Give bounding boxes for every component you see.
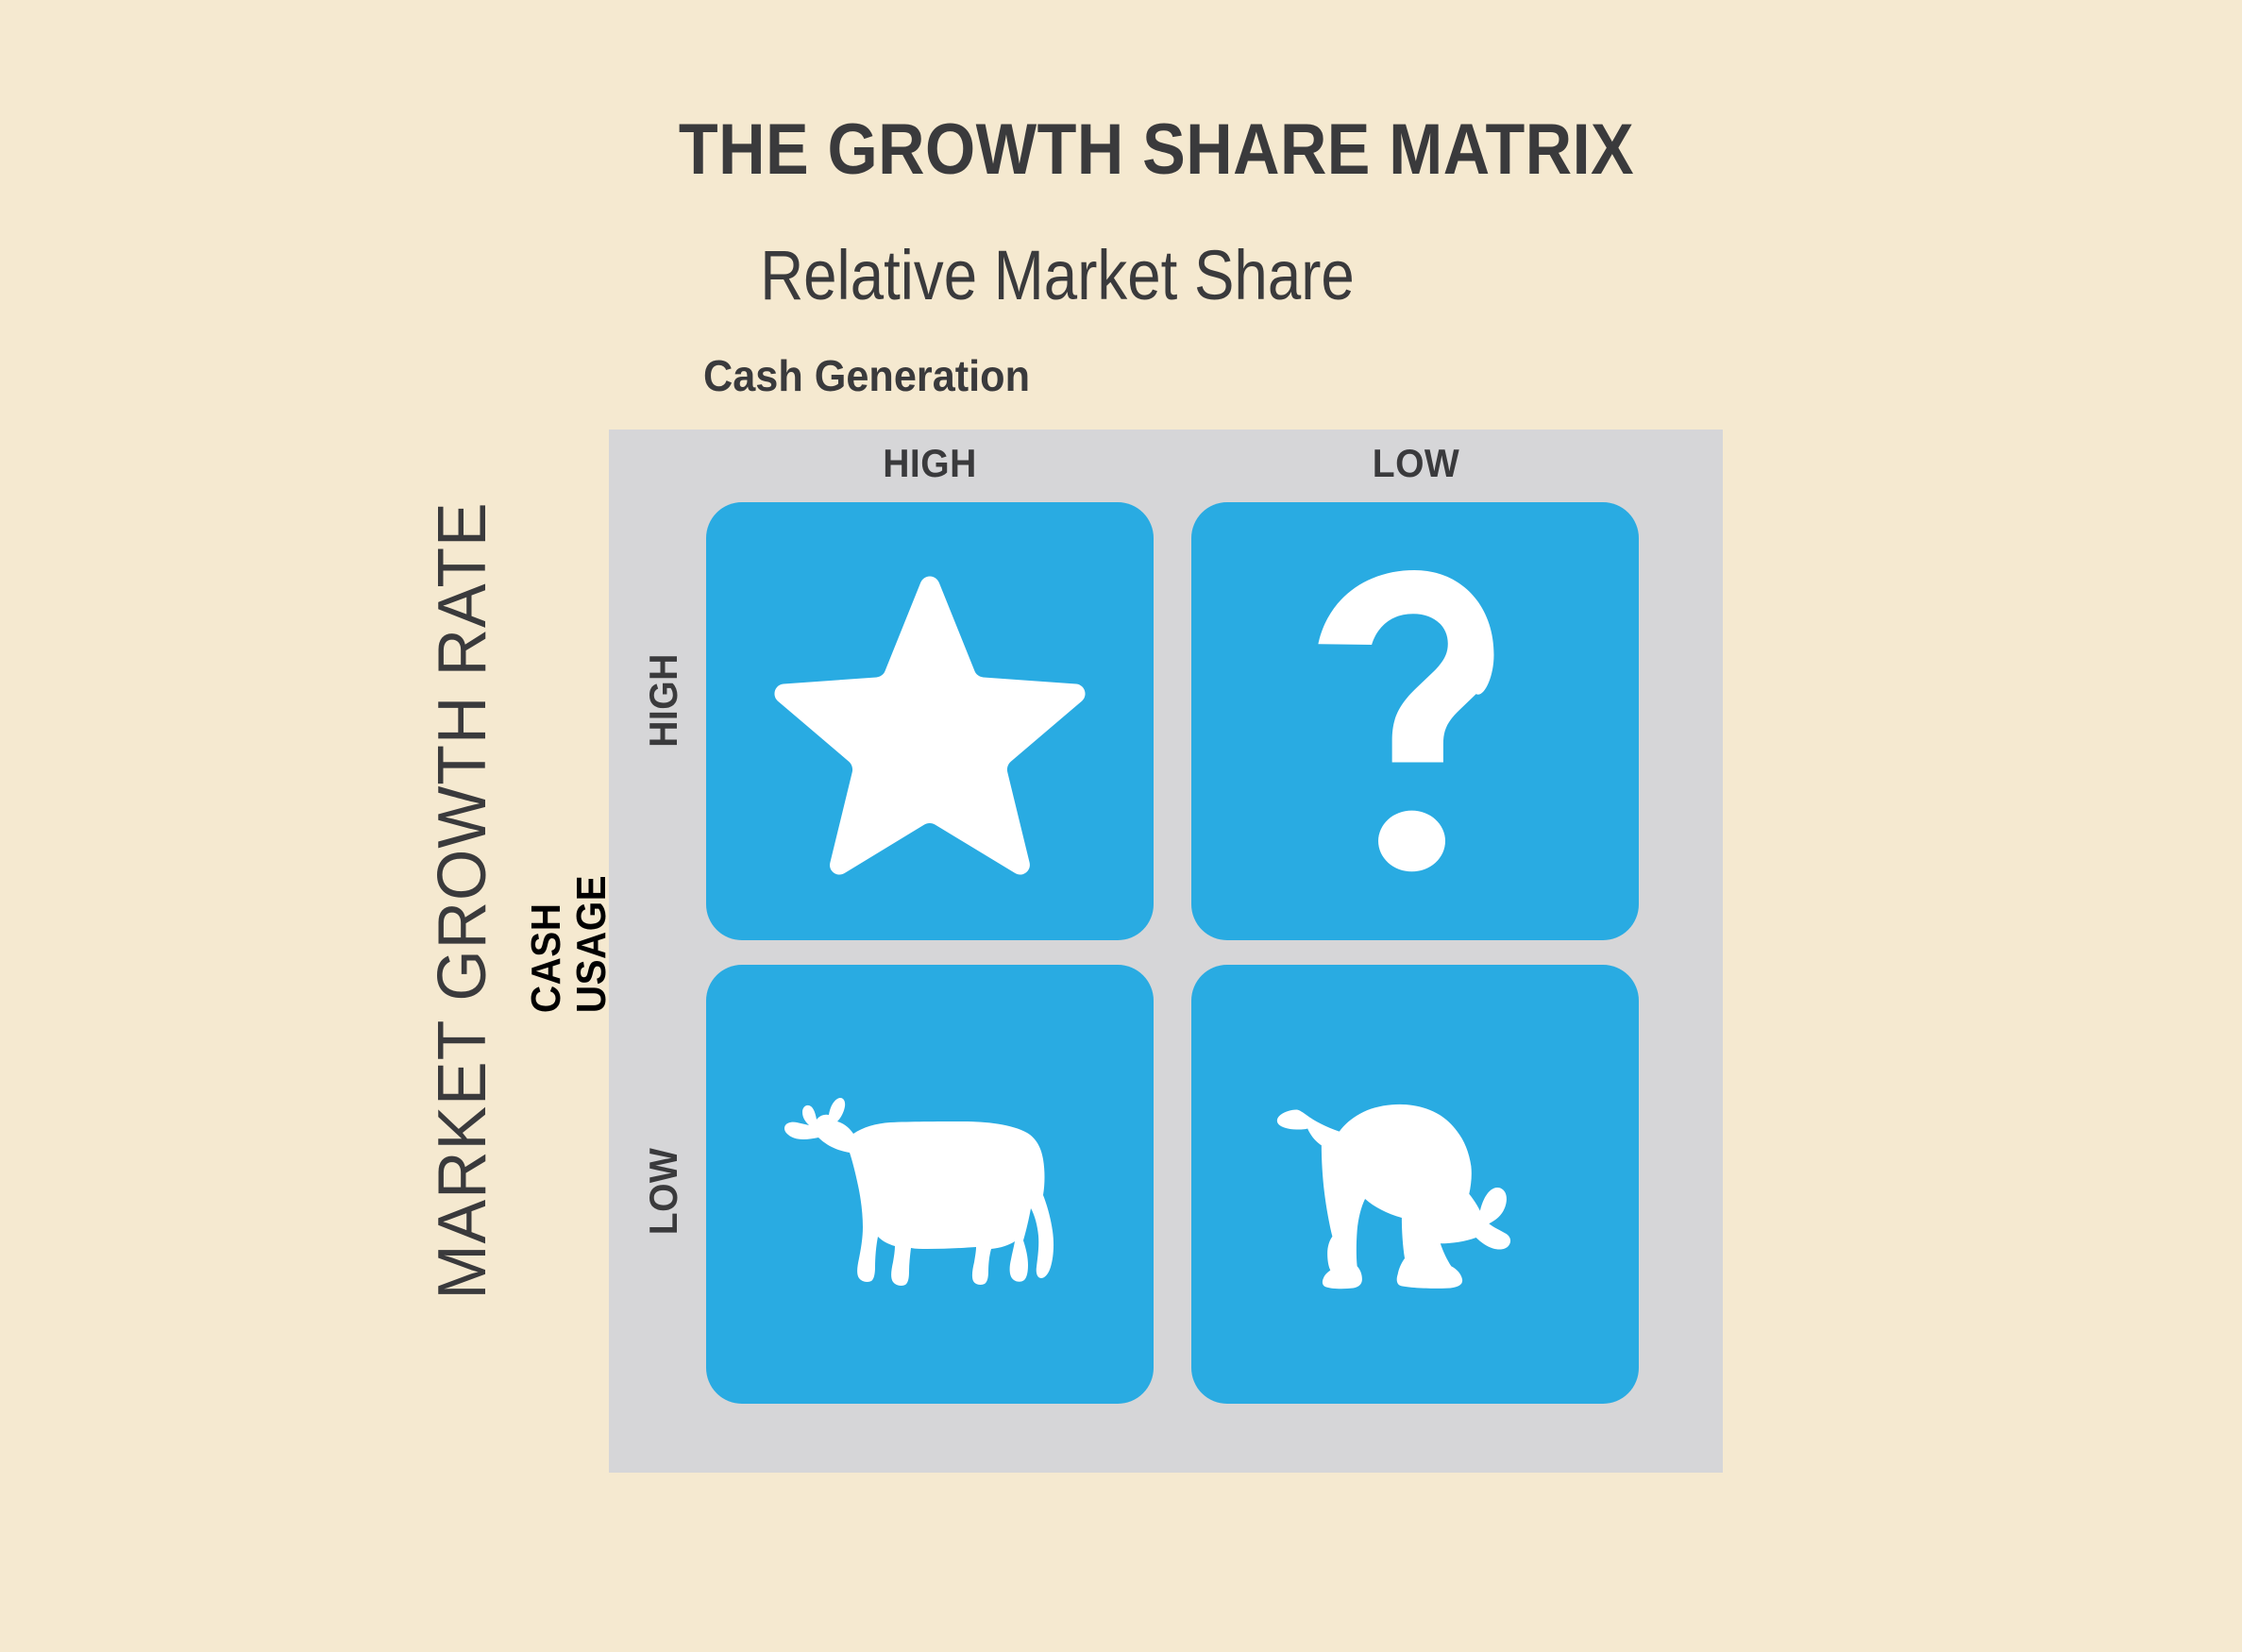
cow-icon xyxy=(765,1059,1095,1309)
column-label-high: HIGH xyxy=(772,442,1088,485)
cash-generation-label: Cash Generation xyxy=(703,351,1030,400)
quadrant-tile-cow[interactable] xyxy=(706,965,1154,1404)
quadrant-tile-question-mark[interactable] xyxy=(1191,502,1639,940)
quadrant-tile-star[interactable] xyxy=(706,502,1154,940)
row-label-low: LOW xyxy=(642,1148,685,1236)
market-growth-rate-label: MARKET GROWTH RATE xyxy=(427,501,498,1299)
cash-usage-label: CASH USAGE xyxy=(524,875,615,1013)
column-label-low: LOW xyxy=(1258,442,1575,485)
quadrant-tile-dog[interactable] xyxy=(1191,965,1639,1404)
page-title: THE GROWTH SHARE MATRIX xyxy=(664,111,1649,189)
dog-icon xyxy=(1255,1050,1576,1319)
subtitle-relative-market-share: Relative Market Share xyxy=(672,238,1443,313)
row-label-high: HIGH xyxy=(642,653,685,748)
question-mark-icon xyxy=(1316,570,1514,872)
growth-share-matrix-diagram: THE GROWTH SHARE MATRIX Relative Market … xyxy=(0,0,2242,1652)
star-icon xyxy=(769,568,1090,875)
